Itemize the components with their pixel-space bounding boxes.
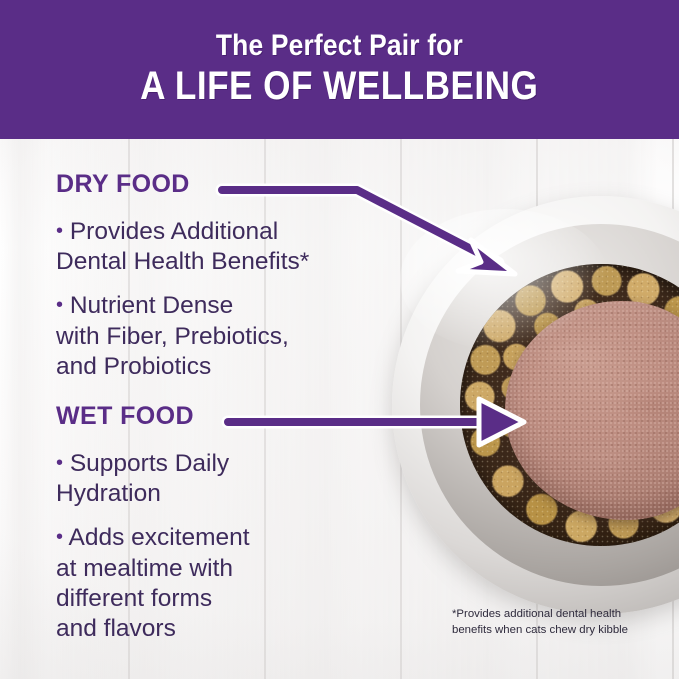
wet-food-bullet-2-line4: and flavors [56, 615, 176, 642]
wet-food-bullet-2-line1: Adds excitement [68, 524, 249, 551]
dry-food-section: DRY FOOD • Provides Additional Dental He… [56, 171, 386, 382]
header-banner: The Perfect Pair for A LIFE OF WELLBEING [0, 0, 679, 139]
bullet-dot-icon: • [56, 294, 63, 316]
infographic-root: The Perfect Pair for A LIFE OF WELLBEING… [0, 0, 679, 679]
bullet-dot-icon: • [56, 452, 63, 474]
dry-food-bullet-2-line3: and Probiotics [56, 353, 211, 380]
wet-food-bullet-1: • Supports Daily Hydration [56, 449, 386, 510]
wet-food-section: WET FOOD • Supports Daily Hydration • Ad… [56, 403, 386, 645]
footnote-line1: *Provides additional dental health [452, 606, 667, 622]
header-title-line1: The Perfect Pair for [216, 30, 463, 62]
dry-food-bullet-2: • Nutrient Dense with Fiber, Prebiotics,… [56, 291, 386, 382]
wet-food-bullet-1-line2: Hydration [56, 480, 161, 507]
bowl-interior [460, 264, 679, 546]
footnote-line2: benefits when cats chew dry kibble [452, 622, 667, 638]
dry-food-heading: DRY FOOD [56, 171, 386, 199]
dry-food-bullet-2-line2: with Fiber, Prebiotics, [56, 323, 289, 350]
wet-food-heading: WET FOOD [56, 403, 386, 431]
bowl-outer-rim [392, 196, 679, 614]
dry-food-bullet-1-line1: Provides Additional [70, 218, 278, 245]
footnote: *Provides additional dental health benef… [452, 606, 667, 638]
wet-food-bullet-2: • Adds excitement at mealtime with diffe… [56, 523, 386, 645]
header-title-line2: A LIFE OF WELLBEING [140, 64, 538, 109]
dry-food-bullet-2-line1: Nutrient Dense [70, 292, 233, 319]
pet-food-bowl-photo [392, 196, 679, 614]
wet-food-bullet-2-line2: at mealtime with [56, 555, 233, 582]
wet-food-bullet-1-line1: Supports Daily [70, 450, 229, 477]
dry-food-bullet-1-line2: Dental Health Benefits* [56, 248, 309, 275]
dry-food-bullet-1: • Provides Additional Dental Health Bene… [56, 217, 386, 278]
bullet-dot-icon: • [56, 526, 63, 548]
wet-food-bullet-2-line3: different forms [56, 585, 212, 612]
bullet-dot-icon: • [56, 220, 63, 242]
bowl-inner-rim [420, 224, 679, 585]
